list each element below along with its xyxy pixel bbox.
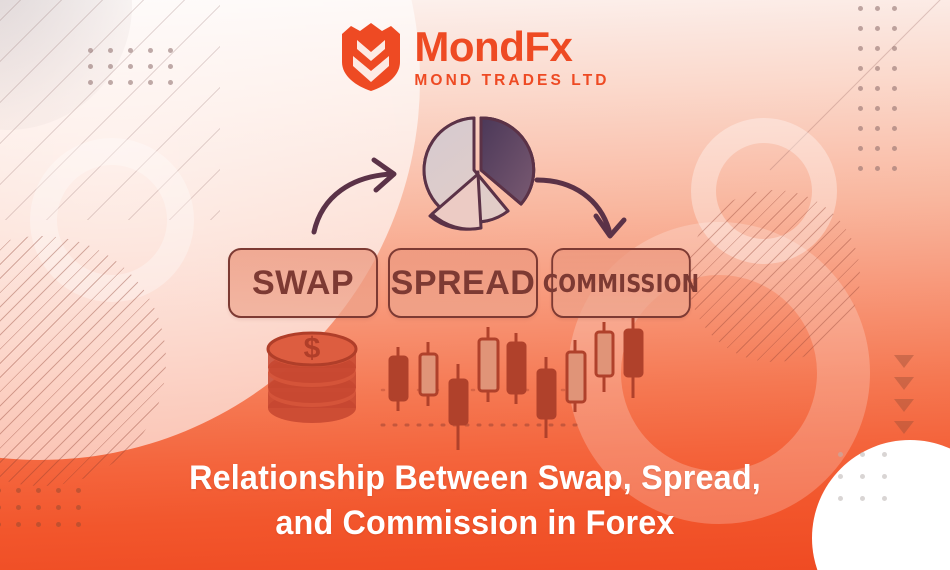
label-box-spread[interactable]: SPREAD (388, 248, 538, 318)
banner-canvas: MondFx MOND TRADES LTD (0, 0, 950, 570)
candlestick-chart-icon (382, 318, 642, 450)
page-title-line-2: and Commission in Forex (24, 501, 927, 546)
label-box-swap[interactable]: SWAP (228, 248, 378, 318)
label-box-commission-text: COMMISSION (543, 269, 700, 298)
pie-chart-icon (424, 118, 534, 229)
svg-text:$: $ (304, 332, 321, 365)
page-title: Relationship Between Swap, Spread, and C… (24, 456, 927, 546)
dot-grid-bottomright (838, 452, 904, 518)
page-title-line-1: Relationship Between Swap, Spread, (24, 456, 927, 501)
curved-arrow-right-icon (314, 160, 394, 232)
dollar-coin-stack-icon: $ (268, 332, 356, 423)
label-box-swap-text: SWAP (252, 264, 354, 303)
label-box-spread-text: SPREAD (391, 264, 536, 303)
curved-arrow-down-icon (537, 180, 624, 236)
label-box-commission[interactable]: COMMISSION (551, 248, 691, 318)
